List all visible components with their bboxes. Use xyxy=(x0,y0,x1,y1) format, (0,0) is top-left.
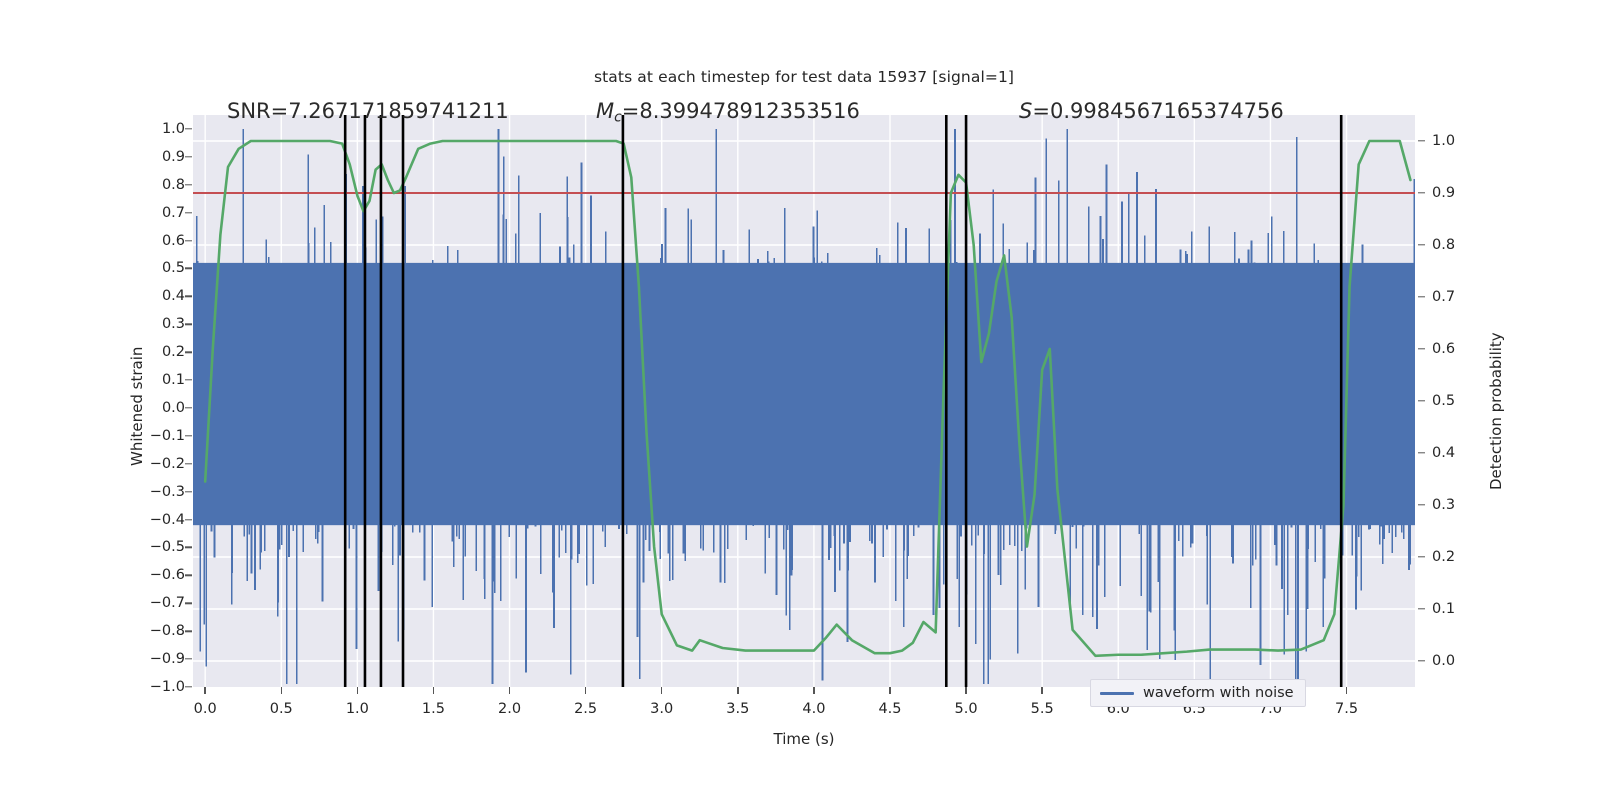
x-tick-label: 0.5 xyxy=(251,701,311,717)
annotation-signal-score-symbol: S xyxy=(1019,99,1032,123)
x-tick-label: 4.5 xyxy=(860,701,920,717)
y-tick-right-mark xyxy=(1418,140,1425,141)
y-tick-right-label: 0.5 xyxy=(1432,393,1492,409)
annotation-chirp-mass: Mc=8.399478912353516 xyxy=(596,99,860,125)
x-tick-label: 7.5 xyxy=(1317,701,1377,717)
y-tick-left-mark xyxy=(185,658,192,659)
y-tick-left-label: 0.3 xyxy=(125,316,185,332)
y-tick-left-label: 0.4 xyxy=(125,288,185,304)
y-tick-left-mark xyxy=(185,603,192,604)
x-tick-label: 1.5 xyxy=(403,701,463,717)
x-tick-mark xyxy=(433,687,434,694)
y-tick-left-mark xyxy=(185,128,192,129)
x-tick-label: 0.0 xyxy=(175,701,235,717)
y-tick-right-label: 0.2 xyxy=(1432,549,1492,565)
y-tick-left-label: −0.9 xyxy=(125,651,185,667)
x-tick-mark xyxy=(1346,687,1347,694)
strain-series xyxy=(193,129,1415,684)
legend-swatch-waveform xyxy=(1100,692,1134,695)
x-tick-label: 5.0 xyxy=(936,701,996,717)
x-tick-label: 5.5 xyxy=(1012,701,1072,717)
x-tick-mark xyxy=(357,687,358,694)
legend-label-waveform: waveform with noise xyxy=(1143,685,1294,701)
y-tick-left-mark xyxy=(185,184,192,185)
x-tick-mark xyxy=(737,687,738,694)
y-tick-left-label: −0.4 xyxy=(125,512,185,528)
x-tick-mark xyxy=(281,687,282,694)
y-tick-right-label: 0.1 xyxy=(1432,601,1492,617)
x-axis-label: Time (s) xyxy=(193,730,1415,748)
y-tick-left-mark xyxy=(185,296,192,297)
y-tick-left-mark xyxy=(185,379,192,380)
plot-svg xyxy=(193,115,1415,687)
y-tick-left-label: −0.6 xyxy=(125,567,185,583)
y-tick-right-mark xyxy=(1418,556,1425,557)
annotation-chirp-mass-number: 8.399478912353516 xyxy=(639,99,859,123)
y-tick-left-mark xyxy=(185,575,192,576)
y-tick-left-mark xyxy=(185,435,192,436)
x-tick-label: 4.0 xyxy=(784,701,844,717)
x-tick-label: 3.5 xyxy=(708,701,768,717)
y-tick-right-label: 0.0 xyxy=(1432,653,1492,669)
y-tick-left-label: 0.6 xyxy=(125,233,185,249)
x-tick-mark xyxy=(1041,687,1042,694)
y-tick-left-mark xyxy=(185,407,192,408)
y-tick-left-label: 1.0 xyxy=(125,121,185,137)
y-tick-left-mark xyxy=(185,240,192,241)
y-tick-right-label: 0.8 xyxy=(1432,237,1492,253)
y-tick-left-mark xyxy=(185,630,192,631)
y-tick-left-label: 0.7 xyxy=(125,205,185,221)
y-axis-right-label: Detection probability xyxy=(1487,332,1505,490)
annotation-snr: SNR=7.267171859741211 xyxy=(227,99,509,123)
annotation-snr-text: SNR=7.267171859741211 xyxy=(227,99,509,123)
x-tick-mark xyxy=(585,687,586,694)
annotation-signal-score-eq: = xyxy=(1032,99,1050,123)
annotation-chirp-mass-symbol: M xyxy=(596,99,614,123)
y-tick-right-mark xyxy=(1418,400,1425,401)
y-tick-right-label: 0.6 xyxy=(1432,341,1492,357)
x-tick-mark xyxy=(204,687,205,694)
y-tick-left-label: −0.7 xyxy=(125,595,185,611)
y-tick-right-mark xyxy=(1418,452,1425,453)
y-tick-right-mark xyxy=(1418,192,1425,193)
y-tick-left-label: −0.5 xyxy=(125,539,185,555)
x-tick-mark xyxy=(813,687,814,694)
y-tick-right-label: 0.9 xyxy=(1432,185,1492,201)
y-tick-left-mark xyxy=(185,351,192,352)
plot-area xyxy=(193,115,1415,687)
y-tick-left-mark xyxy=(185,547,192,548)
annotation-chirp-mass-subscript: c xyxy=(614,109,622,125)
y-tick-right-mark xyxy=(1418,348,1425,349)
y-tick-left-label: −0.3 xyxy=(125,484,185,500)
y-axis-left-label: Whitened strain xyxy=(128,347,146,466)
y-tick-left-mark xyxy=(185,519,192,520)
y-tick-left-label: 0.9 xyxy=(125,149,185,165)
y-tick-right-mark xyxy=(1418,504,1425,505)
y-tick-left-label: 0.5 xyxy=(125,260,185,276)
legend: waveform with noise xyxy=(1090,679,1306,707)
y-tick-left-label: 0.8 xyxy=(125,177,185,193)
x-tick-label: 3.0 xyxy=(632,701,692,717)
x-tick-label: 2.5 xyxy=(556,701,616,717)
x-tick-label: 2.0 xyxy=(480,701,540,717)
x-tick-mark xyxy=(965,687,966,694)
y-tick-left-mark xyxy=(185,686,192,687)
x-tick-mark xyxy=(661,687,662,694)
y-tick-right-mark xyxy=(1418,660,1425,661)
y-tick-left-mark xyxy=(185,268,192,269)
y-tick-left-mark xyxy=(185,463,192,464)
y-tick-left-mark xyxy=(185,212,192,213)
x-tick-mark xyxy=(889,687,890,694)
y-tick-right-mark xyxy=(1418,244,1425,245)
y-tick-right-label: 0.3 xyxy=(1432,497,1492,513)
x-tick-mark xyxy=(509,687,510,694)
figure: stats at each timestep for test data 159… xyxy=(0,0,1600,800)
chart-title: stats at each timestep for test data 159… xyxy=(193,68,1415,86)
annotation-signal-score: S=0.9984567165374756 xyxy=(1019,99,1284,123)
x-tick-label: 1.0 xyxy=(327,701,387,717)
annotation-signal-score-number: 0.9984567165374756 xyxy=(1050,99,1284,123)
y-tick-left-label: −1.0 xyxy=(125,679,185,695)
y-tick-left-label: −0.8 xyxy=(125,623,185,639)
annotation-chirp-mass-value: = xyxy=(622,99,640,123)
y-tick-right-mark xyxy=(1418,296,1425,297)
y-tick-right-label: 0.7 xyxy=(1432,289,1492,305)
y-tick-right-label: 0.4 xyxy=(1432,445,1492,461)
y-tick-right-mark xyxy=(1418,608,1425,609)
y-tick-left-mark xyxy=(185,491,192,492)
y-tick-left-mark xyxy=(185,156,192,157)
y-tick-left-mark xyxy=(185,324,192,325)
y-tick-right-label: 1.0 xyxy=(1432,133,1492,149)
